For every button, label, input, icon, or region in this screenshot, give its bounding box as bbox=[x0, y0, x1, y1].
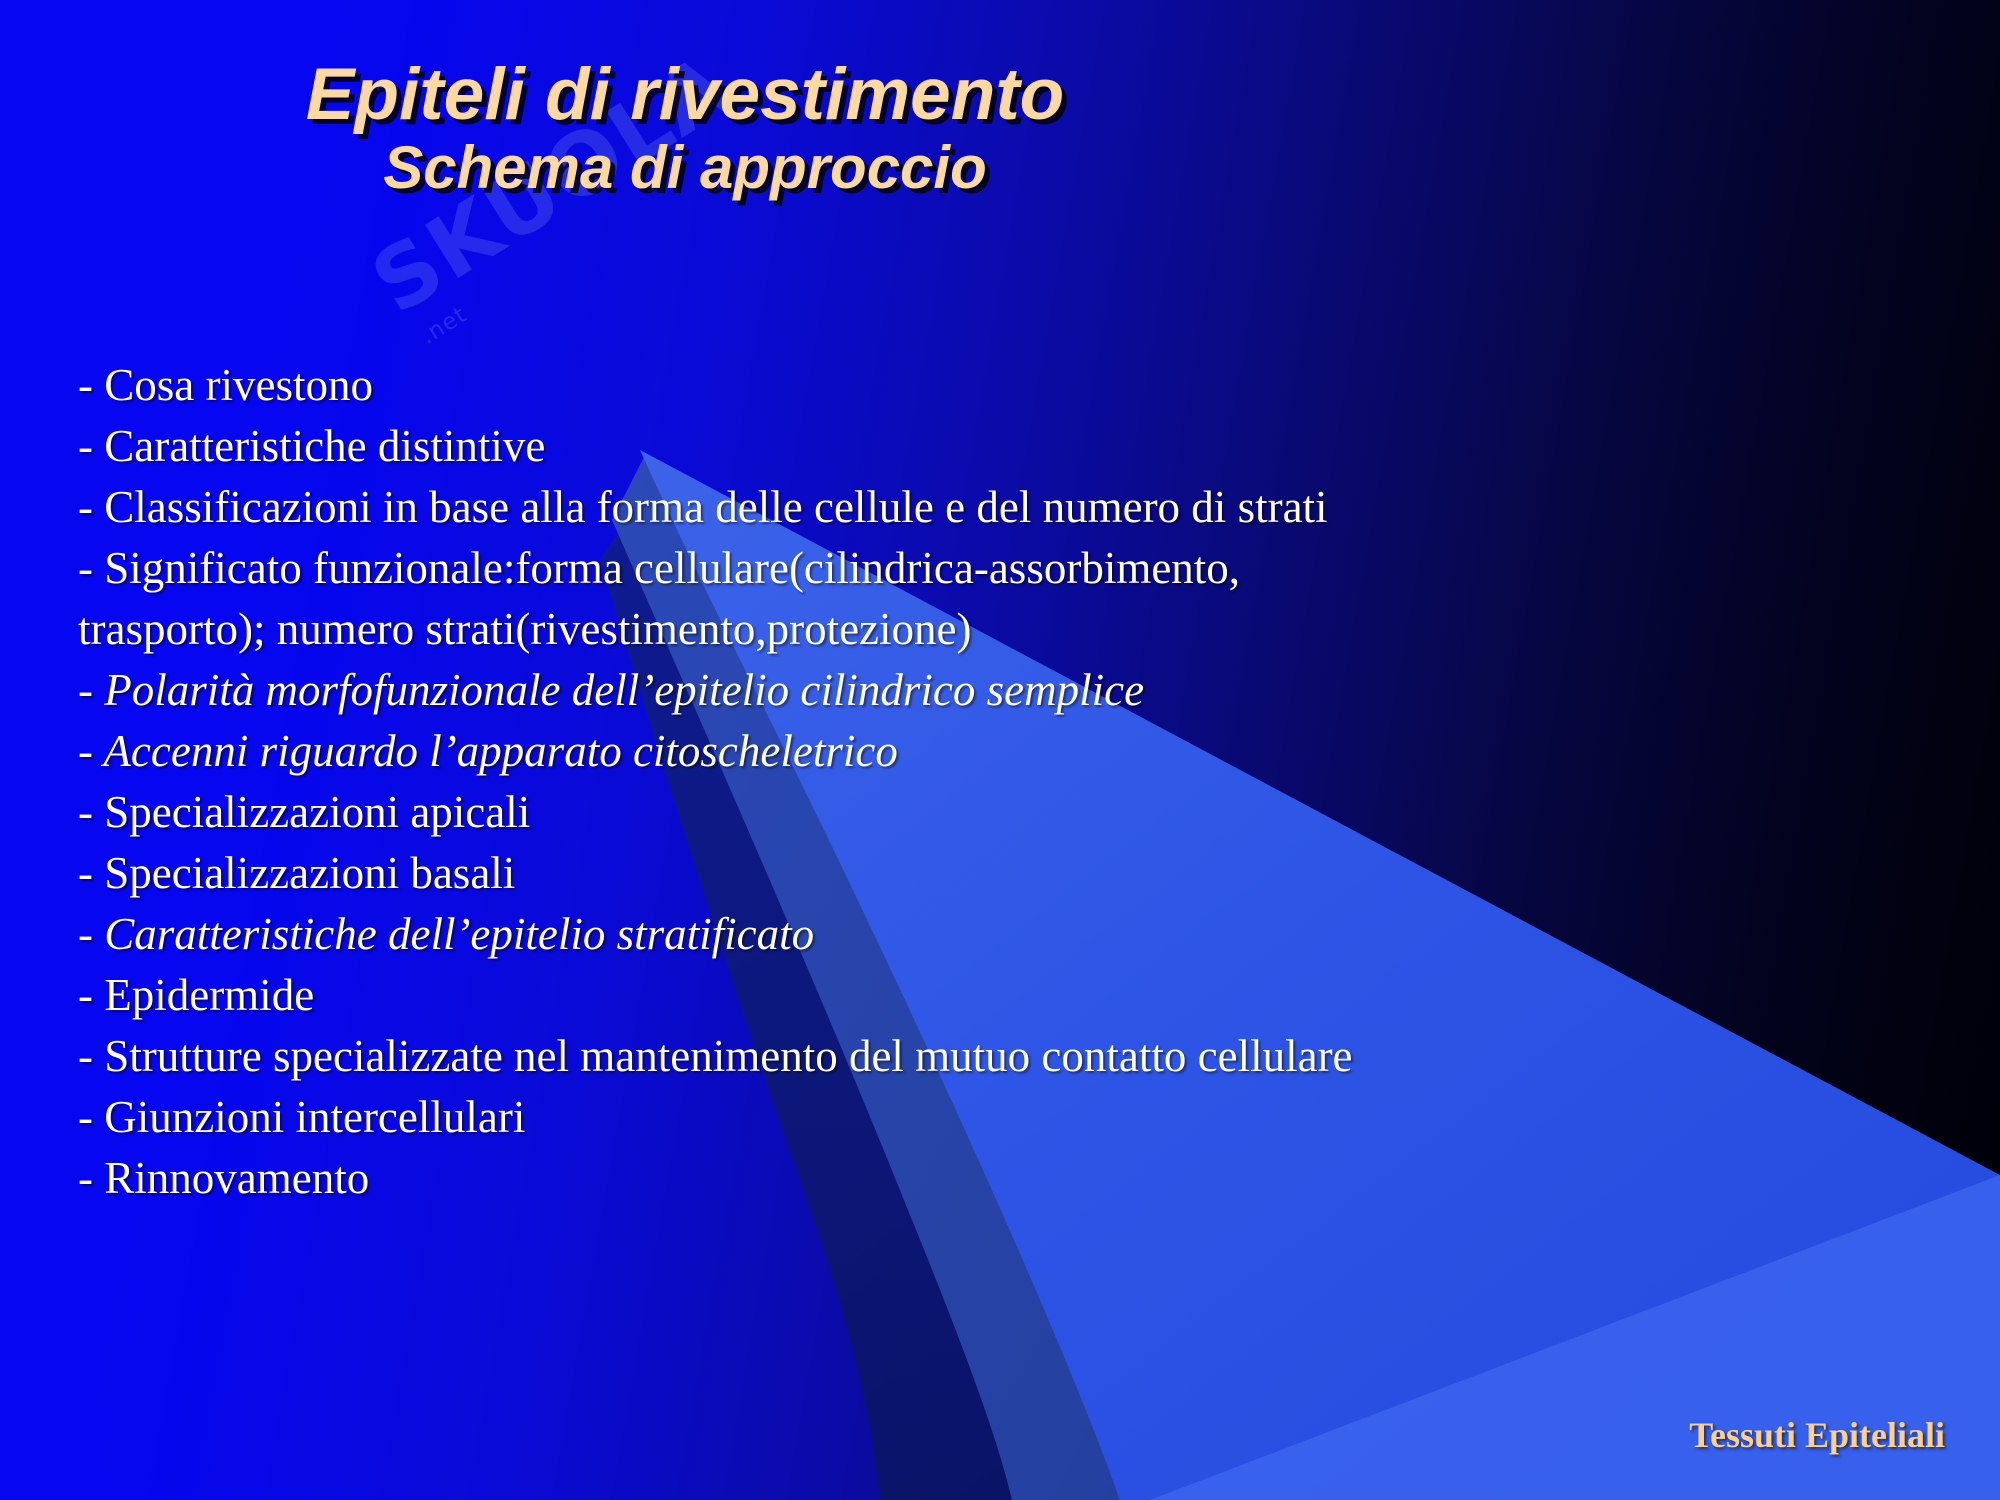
footer: Tessuti Epiteliali bbox=[1689, 1414, 1945, 1456]
bullet-item: - Strutture specializzate nel mantenimen… bbox=[78, 1026, 1838, 1087]
bullet-item: - Polarità morfofunzionale dell’epitelio… bbox=[78, 660, 1838, 721]
bullet-item: - Classificazioni in base alla forma del… bbox=[78, 477, 1838, 538]
bullet-item: - Significato funzionale:forma cellulare… bbox=[78, 538, 1838, 599]
bullet-item: - Giunzioni intercellulari bbox=[78, 1087, 1838, 1148]
bullet-item: - Cosa rivestono bbox=[78, 355, 1838, 416]
slide-canvas: SKUOLA .net Epiteli di rivestimento Sche… bbox=[0, 0, 2000, 1500]
bullet-item: - Accenni riguardo l’apparato citoschele… bbox=[78, 721, 1838, 782]
bullet-item: - Caratteristiche distintive bbox=[78, 416, 1838, 477]
bullet-item: - Specializzazioni basali bbox=[78, 843, 1838, 904]
slide-title: Epiteli di rivestimento bbox=[0, 58, 1370, 132]
bullet-continuation-line: trasporto); numero strati(rivestimento,p… bbox=[78, 599, 1838, 660]
slide-subtitle: Schema di approccio bbox=[0, 136, 1370, 199]
bullet-item: - Caratteristiche dell’epitelio stratifi… bbox=[78, 904, 1838, 965]
bullet-list: - Cosa rivestono- Caratteristiche distin… bbox=[78, 355, 1838, 1209]
bullet-item: - Rinnovamento bbox=[78, 1148, 1838, 1209]
footer-label: Tessuti Epiteliali bbox=[1689, 1414, 1945, 1456]
title-block: Epiteli di rivestimento Schema di approc… bbox=[0, 58, 1370, 199]
bullet-item: - Epidermide bbox=[78, 965, 1838, 1026]
bullet-item: - Specializzazioni apicali bbox=[78, 782, 1838, 843]
